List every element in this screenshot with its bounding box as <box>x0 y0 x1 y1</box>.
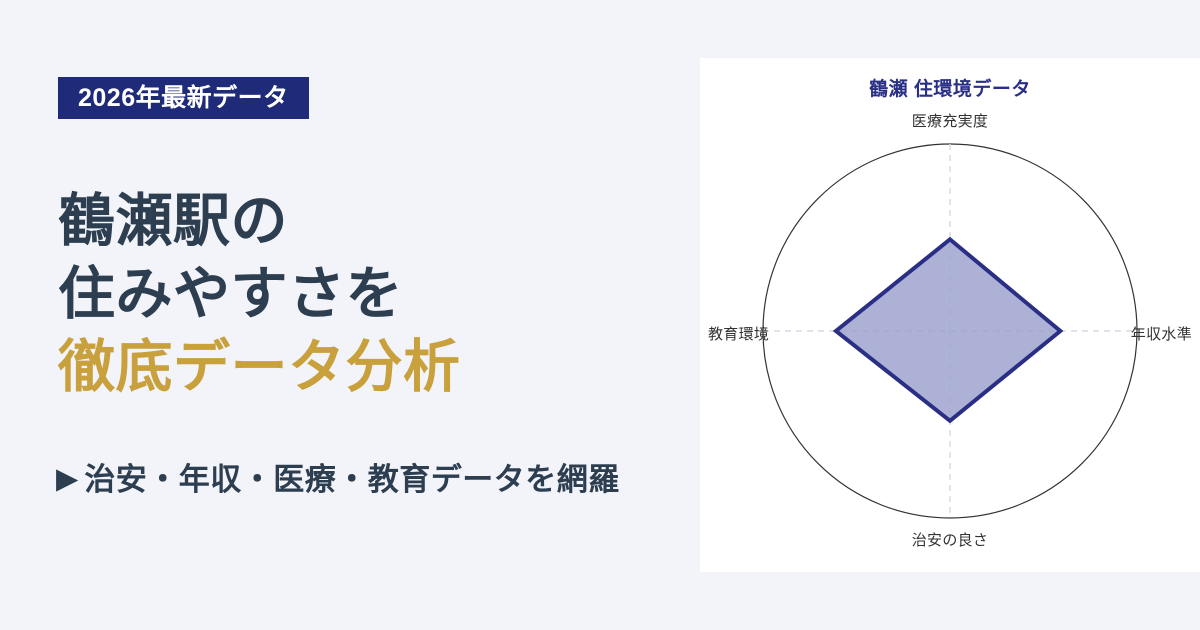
page-title: 鶴瀬駅の 住みやすさを 徹底データ分析 <box>58 185 678 404</box>
hero-left-panel: 2026年最新データ 鶴瀬駅の 住みやすさを 徹底データ分析 ▶ 治安・年収・医… <box>0 0 700 630</box>
subtitle: ▶ 治安・年収・医療・教育データを網羅 <box>56 464 620 495</box>
headline-line-1: 鶴瀬駅の <box>58 185 678 258</box>
latest-data-badge: 2026年最新データ <box>58 77 309 119</box>
headline-line-3-accent: 徹底データ分析 <box>58 331 678 404</box>
radar-chart-svg <box>700 58 1200 572</box>
axis-label-education: 教育環境 <box>708 323 769 344</box>
radar-chart-panel: 鶴瀬 住環境データ 医療充実度 年収水準 治安の良さ 教育環境 <box>700 58 1200 572</box>
axis-label-safety: 治安の良さ <box>700 529 1200 550</box>
axis-label-income: 年収水準 <box>1131 323 1192 344</box>
headline-line-2: 住みやすさを <box>58 258 678 331</box>
subtitle-text: 治安・年収・医療・教育データを網羅 <box>84 464 620 495</box>
badge-label: 2026年最新データ <box>78 86 289 111</box>
radar-chart: 医療充実度 年収水準 治安の良さ 教育環境 <box>700 58 1200 572</box>
radar-data-polygon <box>836 239 1060 420</box>
axis-label-medical: 医療充実度 <box>700 110 1200 131</box>
play-triangle-icon: ▶ <box>56 465 78 494</box>
